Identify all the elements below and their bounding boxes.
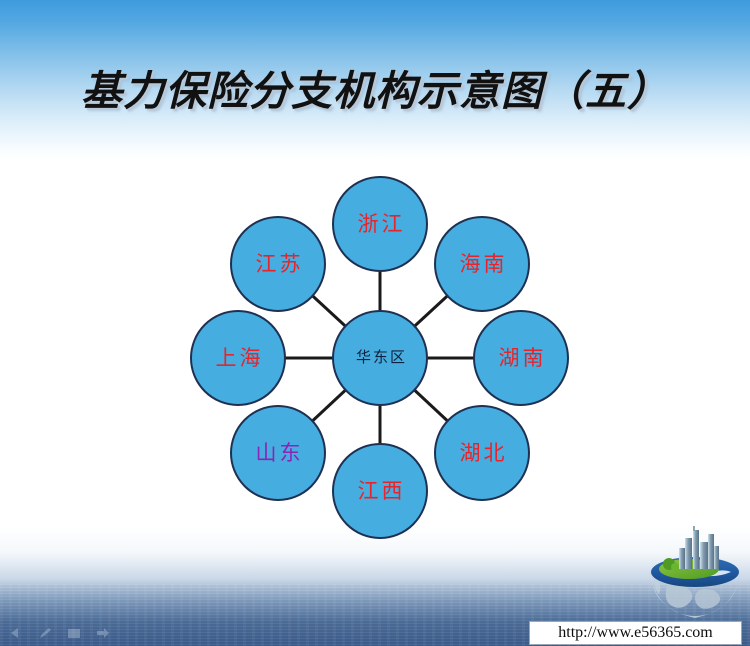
node-label: 浙江 xyxy=(355,214,406,235)
diagram-center-node[interactable]: 华东区 xyxy=(332,310,428,406)
diagram-branch-node[interactable]: 浙江 xyxy=(332,176,428,272)
globe-city-logo-icon xyxy=(645,524,745,622)
watermark-url-text: http://www.e56365.com xyxy=(558,624,713,642)
pen-icon[interactable] xyxy=(37,626,53,640)
next-icon[interactable] xyxy=(95,626,111,640)
diagram-branch-node[interactable]: 上海 xyxy=(190,310,286,406)
node-label: 华东区 xyxy=(353,351,407,366)
node-label: 江西 xyxy=(355,481,406,502)
diagram-branch-node[interactable]: 湖南 xyxy=(473,310,569,406)
diagram-edge xyxy=(415,296,448,326)
diagram-edge xyxy=(312,390,345,421)
node-label: 湖北 xyxy=(457,443,508,464)
node-label: 上海 xyxy=(213,348,264,369)
presentation-slide: 基力保险分支机构示意图（五） 浙江海南湖南湖北江西山东上海江苏华东区 xyxy=(0,0,750,646)
node-label: 山东 xyxy=(253,443,304,464)
diagram-branch-node[interactable]: 湖北 xyxy=(434,405,530,501)
diagram-branch-node[interactable]: 江苏 xyxy=(230,216,326,312)
node-label: 海南 xyxy=(457,254,508,275)
slideshow-controls[interactable] xyxy=(8,626,111,640)
diagram-edge xyxy=(313,296,346,326)
url-watermark: http://www.e56365.com xyxy=(529,621,742,645)
node-label: 江苏 xyxy=(253,254,304,275)
diagram-branch-node[interactable]: 山东 xyxy=(230,405,326,501)
node-label: 湖南 xyxy=(496,348,547,369)
slide-icon[interactable] xyxy=(66,626,82,640)
diagram-branch-node[interactable]: 海南 xyxy=(434,216,530,312)
diagram-branch-node[interactable]: 江西 xyxy=(332,443,428,539)
diagram-edge xyxy=(414,390,447,421)
branch-structure-diagram: 浙江海南湖南湖北江西山东上海江苏华东区 xyxy=(0,0,750,646)
previous-icon[interactable] xyxy=(8,626,24,640)
